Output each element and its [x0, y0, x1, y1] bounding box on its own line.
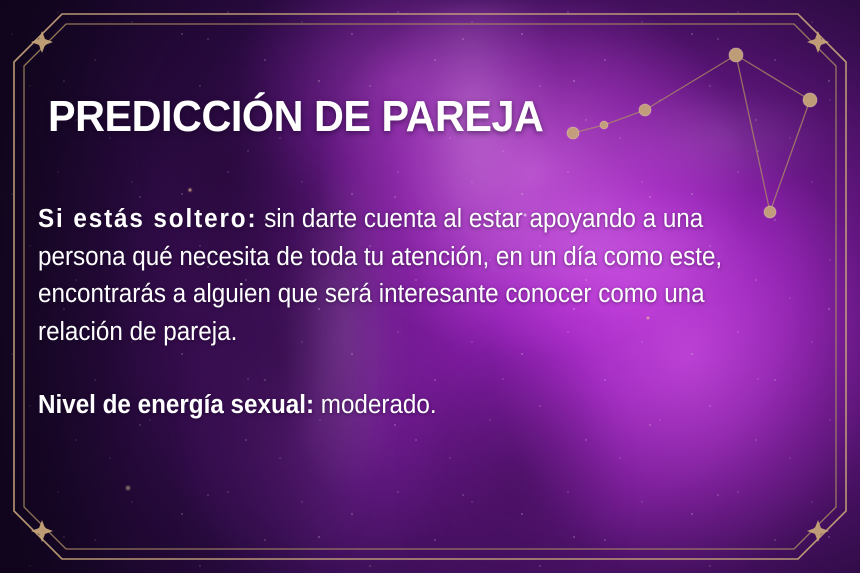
card-content: PREDICCIÓN DE PAREJA Si estás soltero: s…	[38, 0, 828, 573]
energy-level-label: Nivel de energía sexual:	[38, 391, 314, 419]
prediction-paragraph: Si estás soltero: sin darte cuenta al es…	[38, 201, 789, 351]
prediction-paragraph-block: Si estás soltero: sin darte cuenta al es…	[38, 201, 828, 351]
horoscope-prediction-card: PREDICCIÓN DE PAREJA Si estás soltero: s…	[0, 0, 860, 573]
energy-level-line: Nivel de energía sexual: moderado.	[38, 387, 437, 425]
prediction-lead-label: Si estás soltero:	[38, 205, 257, 233]
page-title: PREDICCIÓN DE PAREJA	[48, 92, 543, 142]
energy-level-value: moderado.	[321, 391, 437, 419]
